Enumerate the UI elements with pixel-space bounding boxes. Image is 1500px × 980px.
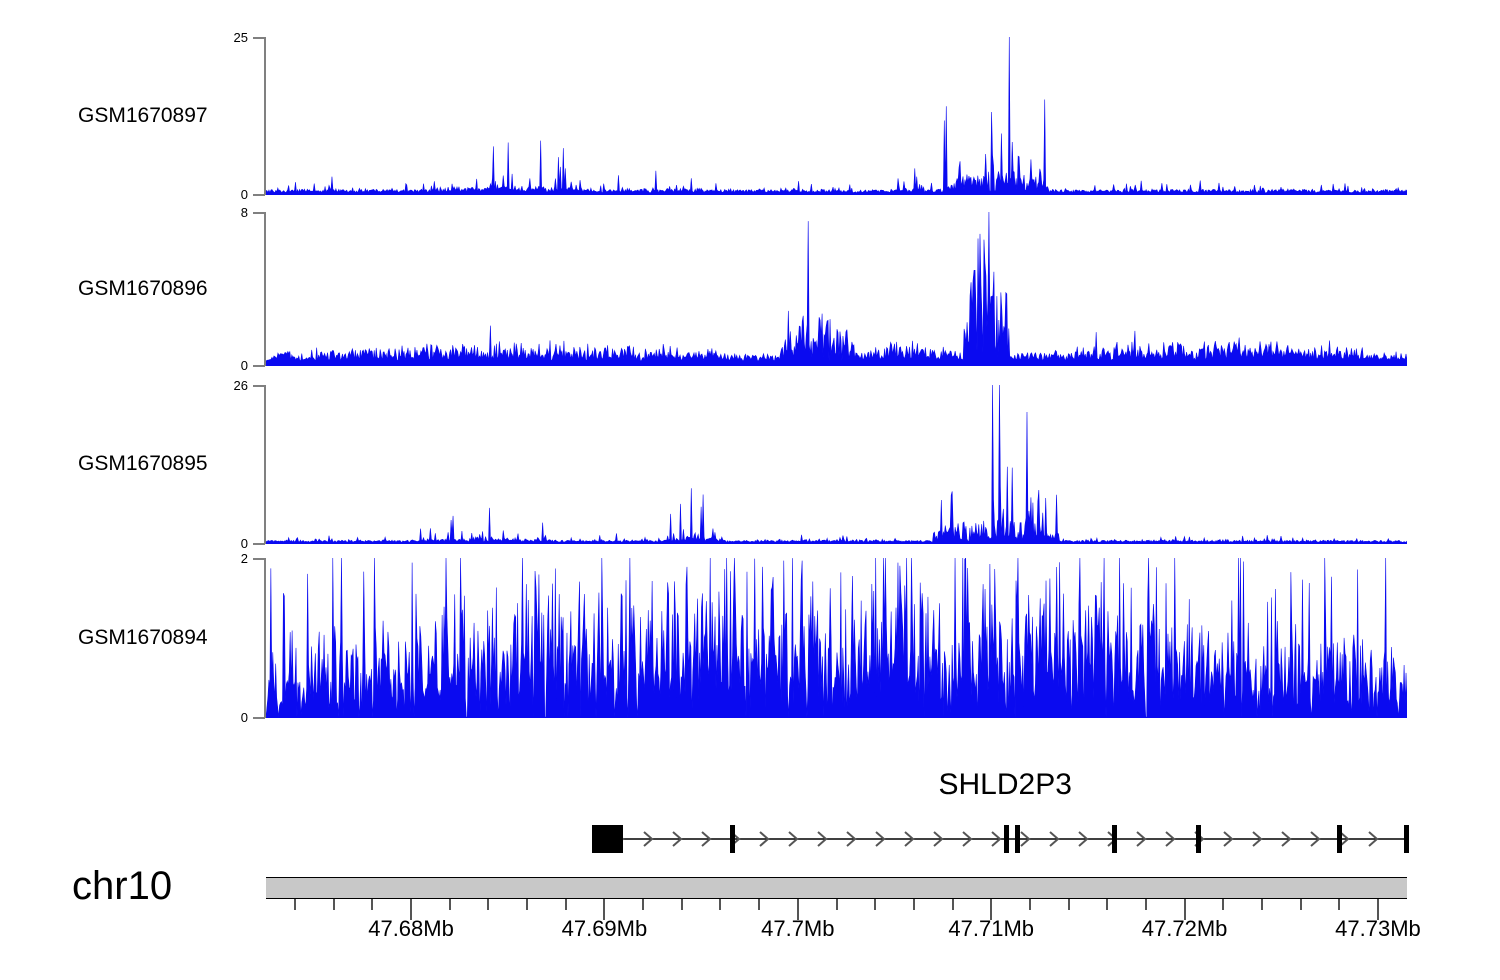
axis-minor-tick	[1261, 899, 1263, 910]
axis-minor-tick	[1338, 899, 1340, 910]
axis-minor-tick	[952, 899, 954, 910]
axis-minor-tick	[874, 899, 876, 910]
track-y-axis-min-tick	[253, 717, 265, 719]
track-y-axis-max-tick	[253, 558, 265, 560]
track-y-axis-max-tick	[253, 212, 265, 214]
chromosome-label: chr10	[72, 866, 172, 906]
track-y-axis-max-label: 26	[208, 379, 248, 392]
gene-name-label: SHLD2P3	[939, 770, 1072, 800]
coverage-plot-area[interactable]	[266, 558, 1407, 718]
axis-minor-tick	[1068, 899, 1070, 910]
axis-tick-label: 47.72Mb	[1142, 918, 1228, 940]
track-y-axis-max-tick	[253, 37, 265, 39]
axis-minor-tick	[1106, 899, 1108, 910]
axis-minor-tick	[1222, 899, 1224, 910]
track-y-axis-min-label: 0	[208, 537, 248, 550]
track-y-axis-min-tick	[253, 543, 265, 545]
axis-minor-tick	[526, 899, 528, 910]
axis-minor-tick	[449, 899, 451, 910]
axis-minor-tick	[758, 899, 760, 910]
genome-browser-view: GSM1670897250GSM167089680GSM1670895260GS…	[0, 0, 1500, 980]
track-sample-label: GSM1670894	[78, 627, 208, 648]
axis-minor-tick	[1145, 899, 1147, 910]
track-y-axis-min-tick	[253, 194, 265, 196]
axis-tick-label: 47.7Mb	[761, 918, 834, 940]
axis-minor-tick	[681, 899, 683, 910]
axis-tick-label: 47.71Mb	[948, 918, 1034, 940]
track-sample-label: GSM1670895	[78, 453, 208, 474]
axis-minor-tick	[1029, 899, 1031, 910]
track-sample-label: GSM1670897	[78, 105, 208, 126]
track-y-axis-min-label: 0	[208, 359, 248, 372]
axis-tick-label: 47.68Mb	[368, 918, 454, 940]
track-y-axis-max-label: 2	[208, 552, 248, 565]
coverage-plot-area[interactable]	[266, 37, 1407, 195]
axis-minor-tick	[371, 899, 373, 910]
axis-minor-tick	[913, 899, 915, 910]
track-y-axis-min-label: 0	[208, 188, 248, 201]
axis-minor-tick	[836, 899, 838, 910]
axis-minor-tick	[294, 899, 296, 910]
axis-minor-tick	[487, 899, 489, 910]
axis-tick-label: 47.69Mb	[562, 918, 648, 940]
axis-minor-tick	[565, 899, 567, 910]
axis-minor-tick	[642, 899, 644, 910]
track-y-axis-max-label: 8	[208, 206, 248, 219]
axis-tick-label: 47.73Mb	[1335, 918, 1421, 940]
axis-minor-tick	[719, 899, 721, 910]
coverage-plot-area[interactable]	[266, 385, 1407, 544]
axis-minor-tick	[1300, 899, 1302, 910]
chromosome-ideogram-bar[interactable]	[266, 877, 1407, 899]
track-y-axis-min-tick	[253, 365, 265, 367]
track-sample-label: GSM1670896	[78, 278, 208, 299]
axis-minor-tick	[333, 899, 335, 910]
gene-model-track[interactable]	[0, 823, 1500, 857]
track-y-axis-max-tick	[253, 385, 265, 387]
track-y-axis-min-label: 0	[208, 711, 248, 724]
track-y-axis-max-label: 25	[208, 31, 248, 44]
coverage-plot-area[interactable]	[266, 212, 1407, 366]
